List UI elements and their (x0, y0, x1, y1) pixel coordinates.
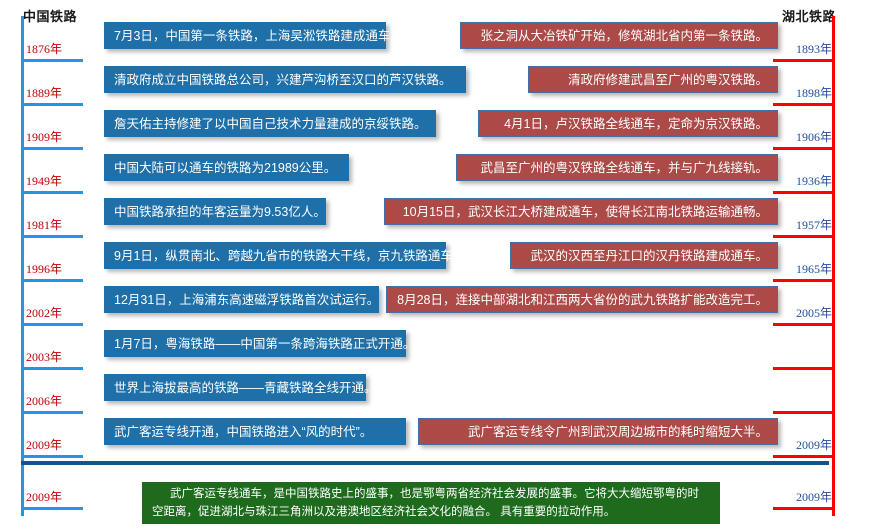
hubei-event-box: 8月28日，连接中部湖北和江西两大省份的武九铁路扩能改造完工。 (386, 286, 778, 313)
timeline-row: 2002年2005年12月31日，上海浦东高速磁浮铁路首次试运行。8月28日，连… (0, 282, 870, 326)
timeline-row: 1889年1898年清政府成立中国铁路总公司，兴建芦沟桥至汉口的芦汉铁路。清政府… (0, 62, 870, 106)
left-year-label: 1889年 (26, 84, 62, 101)
china-event-box: 武广客运专线开通，中国铁路进入“风的时代”。 (104, 418, 406, 445)
china-event-box: 1月7日，粤海铁路——中国第一条跨海铁路正式开通。 (104, 330, 406, 357)
right-year-label: 2009年 (796, 488, 832, 505)
timeline-row: 2006年世界上海拔最高的铁路——青藏铁路全线开通。 (0, 370, 870, 414)
right-year-label: 2005年 (796, 304, 832, 321)
china-event-box: 詹天佑主持修建了以中国自己技术力量建成的京绥铁路。 (104, 110, 436, 137)
left-year-label: 2009年 (26, 488, 62, 505)
left-year-label: 2002年 (26, 304, 62, 321)
hubei-event-box: 武广客运专线令广州到武汉周边城市的耗时缩短大半。 (418, 418, 778, 445)
timeline-row: 1981年1957年中国铁路承担的年客运量为9.53亿人。10月15日，武汉长江… (0, 194, 870, 238)
china-event-box: 世界上海拔最高的铁路——青藏铁路全线开通。 (104, 374, 366, 401)
right-tick-mark (773, 507, 835, 510)
hubei-event-box: 武昌至广州的粤汉铁路全线通车，并与广九线接轨。 (456, 154, 778, 181)
left-year-label: 1949年 (26, 172, 62, 189)
section-separator (21, 461, 829, 465)
timeline-row: 1876年1893年7月3日，中国第一条铁路，上海吴淞铁路建成通车。张之洞从大冶… (0, 18, 870, 62)
timeline-row: 2003年1月7日，粤海铁路——中国第一条跨海铁路正式开通。 (0, 326, 870, 370)
right-year-label: 1898年 (796, 84, 832, 101)
left-year-label: 2003年 (26, 348, 62, 365)
china-event-box: 7月3日，中国第一条铁路，上海吴淞铁路建成通车。 (104, 22, 386, 49)
right-year-label: 1957年 (796, 216, 832, 233)
left-year-label: 2009年 (26, 436, 62, 453)
china-event-box: 9月1日，纵贯南北、跨越九省市的铁路大干线，京九铁路通车 (104, 242, 446, 269)
left-year-label: 1996年 (26, 260, 62, 277)
timeline-row: 1909年1906年詹天佑主持修建了以中国自己技术力量建成的京绥铁路。4月1日，… (0, 106, 870, 150)
left-year-label: 1981年 (26, 216, 62, 233)
china-event-box: 清政府成立中国铁路总公司，兴建芦沟桥至汉口的芦汉铁路。 (104, 66, 466, 93)
timeline-diagram: 中国铁路 湖北铁路 1876年1893年7月3日，中国第一条铁路，上海吴淞铁路建… (0, 0, 870, 530)
china-event-box: 中国铁路承担的年客运量为9.53亿人。 (104, 198, 326, 225)
right-year-label: 1965年 (796, 260, 832, 277)
right-year-label: 2009年 (796, 436, 832, 453)
right-year-label: 1936年 (796, 172, 832, 189)
left-year-label: 2006年 (26, 392, 62, 409)
left-year-label: 1876年 (26, 40, 62, 57)
left-tick-mark (21, 455, 83, 458)
china-event-box: 中国大陆可以通车的铁路为21989公里。 (104, 154, 349, 181)
right-tick-mark (773, 455, 835, 458)
hubei-event-box: 4月1日，卢汉铁路全线通车，定命为京汉铁路。 (478, 110, 778, 137)
summary-callout: 武广客运专线通车，是中国铁路史上的盛事，也是鄂粤两省经济社会发展的盛事。它将大大… (142, 482, 720, 524)
timeline-row: 1996年1965年9月1日，纵贯南北、跨越九省市的铁路大干线，京九铁路通车武汉… (0, 238, 870, 282)
right-year-label: 1906年 (796, 128, 832, 145)
timeline-row: 2009年2009年武广客运专线开通，中国铁路进入“风的时代”。武广客运专线令广… (0, 414, 870, 458)
hubei-event-box: 清政府修建武昌至广州的粤汉铁路。 (528, 66, 778, 93)
left-tick-mark (21, 507, 83, 510)
china-event-box: 12月31日，上海浦东高速磁浮铁路首次试运行。 (104, 286, 379, 313)
timeline-row: 1949年1936年中国大陆可以通车的铁路为21989公里。武昌至广州的粤汉铁路… (0, 150, 870, 194)
hubei-event-box: 武汉的汉西至丹江口的汉丹铁路建成通车。 (510, 242, 778, 269)
hubei-event-box: 张之洞从大冶铁矿开始，修筑湖北省内第一条铁路。 (460, 22, 778, 49)
left-year-label: 1909年 (26, 128, 62, 145)
hubei-event-box: 10月15日，武汉长江大桥建成通车，使得长江南北铁路运输通畅。 (384, 198, 778, 225)
right-year-label: 1893年 (796, 40, 832, 57)
